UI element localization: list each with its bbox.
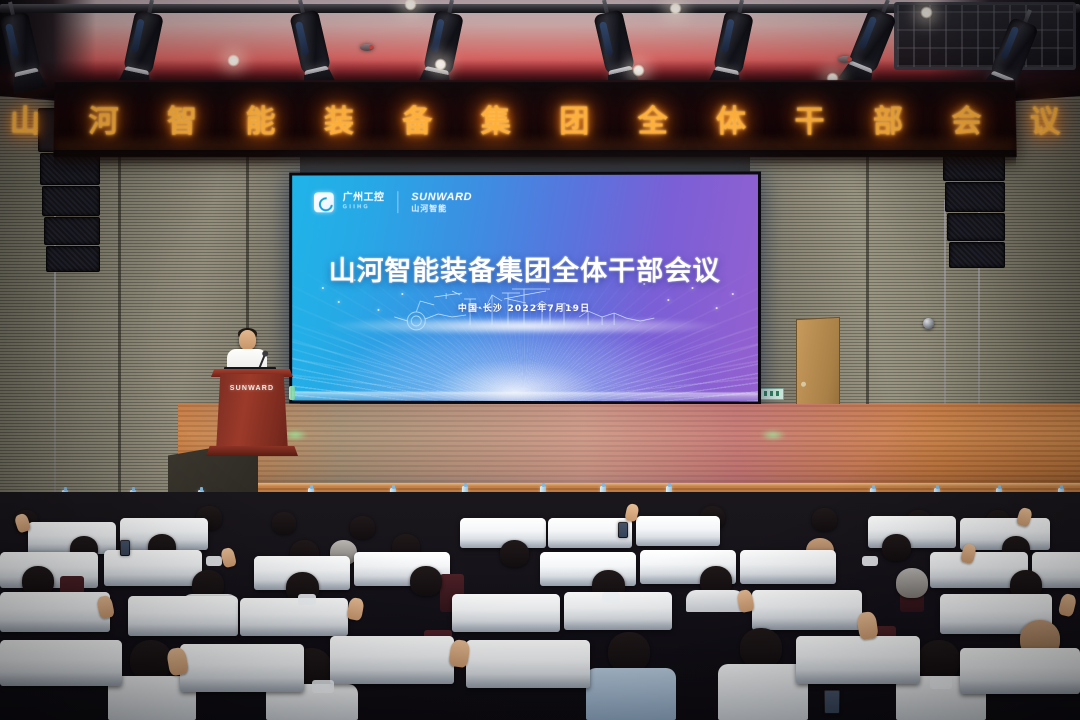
attendee-head [918, 640, 960, 680]
attendee-head [500, 540, 529, 567]
podium-base [206, 446, 298, 456]
ceiling-downlight [920, 6, 933, 19]
sunward-logo-latin: SUNWARD [411, 192, 472, 203]
attendee-shoulders [718, 664, 808, 720]
ceiling-downlight [632, 64, 645, 77]
ceiling-downlight [227, 54, 240, 67]
screen-surface: 广州工控 GIIHG SUNWARD 山河智能 山河智能装备集团全体干部会议 中… [292, 174, 758, 401]
screen-bottom-glow [292, 392, 758, 402]
screen-subtitle: 中国·长沙 2022年7月19日 [292, 301, 758, 314]
stage-floor [178, 404, 1080, 492]
seat [240, 598, 348, 636]
smartphone[interactable] [618, 522, 628, 538]
ceiling-downlight [434, 58, 447, 71]
seat [0, 640, 122, 686]
face-mask [602, 592, 620, 603]
attendee-shoulders [586, 668, 676, 720]
giihg-logo-icon [314, 192, 334, 212]
led-stage-screen: 广州工控 GIIHG SUNWARD 山河智能 山河智能装备集团全体干部会议 中… [289, 171, 761, 404]
attendee-head [272, 512, 296, 534]
face-mask [930, 676, 952, 689]
door-knob-icon [801, 382, 806, 387]
face-mask [206, 556, 222, 566]
seat [636, 516, 720, 546]
attendee-head [882, 534, 911, 561]
podium-water-bottle [289, 386, 295, 400]
attendee-head [130, 640, 172, 680]
wall-camera-icon [923, 318, 934, 329]
attendee-head [608, 632, 650, 672]
attendee-head [350, 516, 375, 539]
seat [466, 640, 590, 688]
attendee-head [410, 566, 442, 596]
attendee-shoulders [686, 590, 744, 612]
smartphone[interactable] [120, 540, 130, 556]
screen-title: 山河智能装备集团全体干部会议 [292, 249, 758, 288]
smoke-detector-icon [838, 56, 852, 63]
smartphone[interactable] [824, 690, 840, 714]
seat [868, 516, 956, 548]
attendee-head [740, 628, 782, 668]
seat [128, 596, 238, 636]
face-mask [312, 680, 334, 693]
seat [180, 644, 304, 692]
face-mask [298, 594, 316, 605]
banner-text: 山 河 智 能 装 备 集 团 全 体 干 部 会 议 [0, 96, 1079, 140]
face-mask [862, 556, 878, 566]
seat [330, 636, 454, 684]
presenter-head [239, 330, 256, 350]
ceiling-downlight [669, 2, 682, 15]
floor-light-reflection [760, 430, 786, 440]
attendee-head [896, 568, 928, 598]
conference-hall-photo: 山 河 智 能 装 备 集 团 全 体 干 部 会 议 [0, 0, 1080, 720]
logo-divider [397, 191, 398, 213]
podium-brand-label: SUNWARD [216, 385, 288, 392]
giihg-logo-chinese: 广州工控 [343, 194, 385, 204]
wall-panel-edge [118, 150, 121, 500]
seat [104, 550, 202, 586]
screen-logo-lockup: 广州工控 GIIHG SUNWARD 山河智能 [314, 191, 472, 213]
exit-sign-icon [760, 388, 784, 400]
smoke-detector-icon [360, 44, 374, 51]
seat [0, 592, 110, 632]
seat [740, 550, 836, 584]
seat [796, 636, 920, 684]
seat [452, 594, 560, 632]
seat [960, 648, 1080, 694]
attendee-head [812, 508, 837, 531]
sunward-logo-chinese: 山河智能 [411, 205, 472, 213]
giihg-logo-latin: GIIHG [343, 205, 385, 211]
seat [752, 590, 862, 630]
banner-skirt [54, 150, 1016, 166]
